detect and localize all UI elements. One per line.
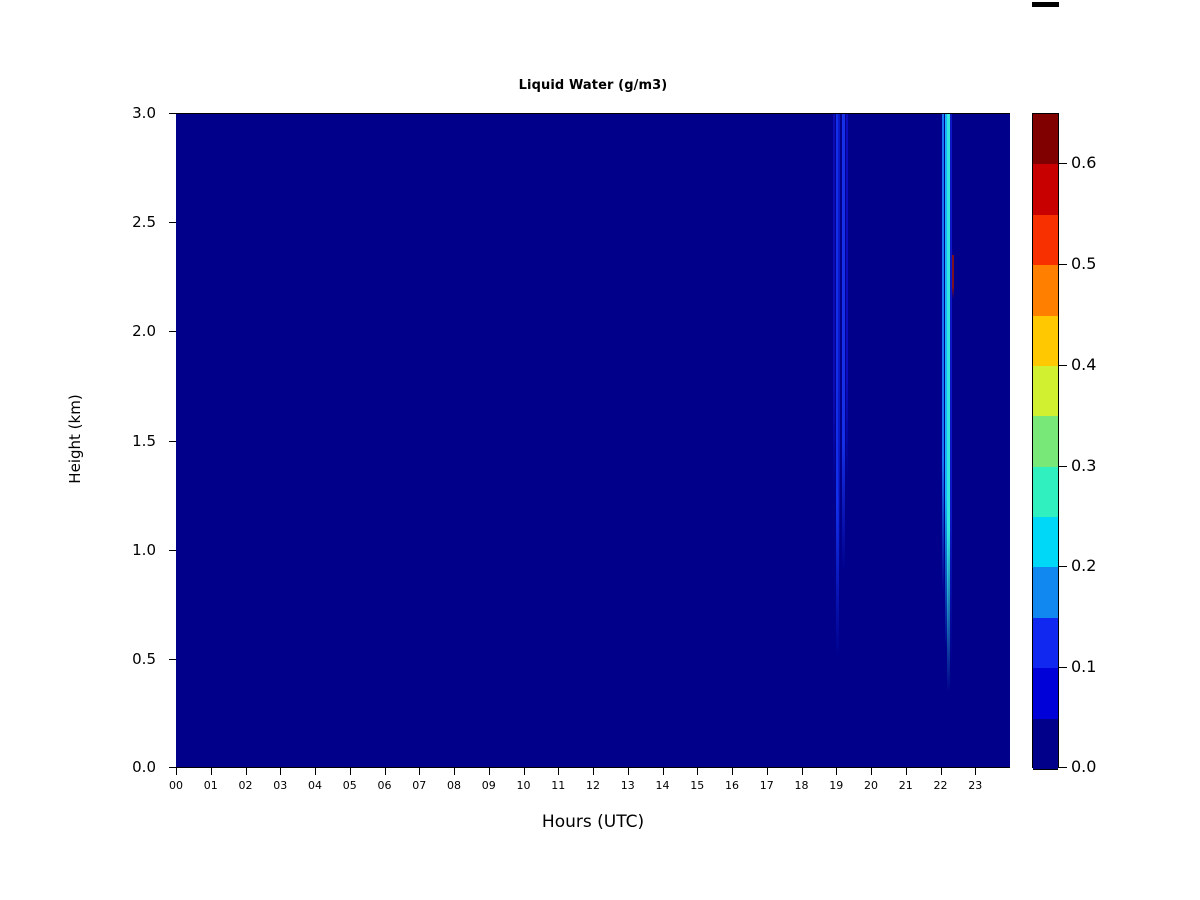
x-tick-mark <box>454 768 455 775</box>
x-tick-mark <box>732 768 733 775</box>
y-tick-label: 2.5 <box>96 213 156 231</box>
y-tick-label: 3.0 <box>96 104 156 122</box>
x-tick-mark <box>280 768 281 775</box>
colorbar-tick-mark <box>1059 365 1067 366</box>
colorbar-band <box>1033 265 1058 315</box>
x-axis-title: Hours (UTC) <box>176 812 1010 832</box>
colorbar-band <box>1033 618 1058 668</box>
x-tick-label: 17 <box>752 779 782 792</box>
heatmap-plot-area[interactable] <box>176 113 1010 768</box>
x-tick-mark <box>489 768 490 775</box>
x-tick-mark <box>246 768 247 775</box>
x-tick-label: 20 <box>856 779 886 792</box>
colorbar-tick-mark <box>1059 264 1067 265</box>
y-tick-label: 1.5 <box>96 432 156 450</box>
x-tick-label: 21 <box>891 779 921 792</box>
x-tick-label: 08 <box>439 779 469 792</box>
colorbar-tick-mark <box>1059 566 1067 567</box>
y-tick-mark <box>169 222 176 223</box>
heatmap-streak <box>838 113 840 572</box>
x-tick-mark <box>941 768 942 775</box>
x-tick-label: 23 <box>960 779 990 792</box>
x-tick-label: 19 <box>821 779 851 792</box>
x-tick-label: 07 <box>404 779 434 792</box>
x-tick-mark <box>663 768 664 775</box>
x-tick-label: 06 <box>370 779 400 792</box>
x-tick-label: 12 <box>578 779 608 792</box>
x-tick-mark <box>975 768 976 775</box>
x-tick-mark <box>211 768 212 775</box>
colorbar-band <box>1033 416 1058 466</box>
x-tick-mark <box>836 768 837 775</box>
colorbar-band <box>1033 114 1058 164</box>
colorbar-tick-label: 0.6 <box>1071 153 1096 172</box>
y-tick-label: 0.0 <box>96 758 156 776</box>
x-tick-mark <box>350 768 351 775</box>
colorbar-band-separator <box>1033 769 1058 770</box>
heatmap-streak <box>952 255 954 299</box>
x-tick-mark <box>558 768 559 775</box>
colorbar-band <box>1033 567 1058 617</box>
x-tick-label: 16 <box>717 779 747 792</box>
x-tick-label: 02 <box>231 779 261 792</box>
colorbar-band <box>1033 215 1058 265</box>
colorbar-band <box>1033 164 1058 214</box>
colorbar-tick-label: 0.3 <box>1071 456 1096 475</box>
clipped-colorbar-fragment <box>1032 2 1059 7</box>
colorbar-tick-mark <box>1059 163 1067 164</box>
x-tick-mark <box>697 768 698 775</box>
x-tick-mark <box>176 768 177 775</box>
colorbar-tick-label: 0.4 <box>1071 355 1096 374</box>
x-tick-label: 14 <box>648 779 678 792</box>
y-tick-mark <box>169 113 176 114</box>
x-tick-mark <box>385 768 386 775</box>
colorbar-band <box>1033 467 1058 517</box>
y-tick-label: 0.5 <box>96 650 156 668</box>
heatmap-streak <box>833 113 835 495</box>
x-tick-label: 00 <box>161 779 191 792</box>
colorbar-band <box>1033 668 1058 718</box>
x-tick-label: 04 <box>300 779 330 792</box>
x-tick-mark <box>906 768 907 775</box>
x-tick-label: 01 <box>196 779 226 792</box>
colorbar-tick-label: 0.5 <box>1071 254 1096 273</box>
y-tick-mark <box>169 331 176 332</box>
colorbar-tick-mark <box>1059 667 1067 668</box>
x-tick-label: 03 <box>265 779 295 792</box>
heatmap-streak <box>846 113 848 484</box>
colorbar-tick-label: 0.1 <box>1071 657 1096 676</box>
x-tick-mark <box>802 768 803 775</box>
y-tick-label: 2.0 <box>96 322 156 340</box>
y-tick-label: 1.0 <box>96 541 156 559</box>
page-title: Liquid Water (g/m3) <box>176 78 1010 93</box>
y-tick-mark <box>169 659 176 660</box>
colorbar-band <box>1033 719 1058 769</box>
x-tick-label: 13 <box>613 779 643 792</box>
x-tick-mark <box>871 768 872 775</box>
heatmap-streak <box>942 113 944 593</box>
x-tick-mark <box>593 768 594 775</box>
y-tick-mark <box>169 441 176 442</box>
colorbar-band <box>1033 316 1058 366</box>
x-tick-label: 10 <box>509 779 539 792</box>
colorbar-tick-label: 0.2 <box>1071 556 1096 575</box>
colorbar[interactable] <box>1032 113 1059 768</box>
x-tick-mark <box>524 768 525 775</box>
x-tick-mark <box>767 768 768 775</box>
colorbar-tick-label: 0.0 <box>1071 757 1096 776</box>
x-tick-label: 15 <box>682 779 712 792</box>
x-tick-label: 09 <box>474 779 504 792</box>
heatmap-streak <box>950 113 952 670</box>
x-tick-label: 22 <box>926 779 956 792</box>
colorbar-tick-mark <box>1059 466 1067 467</box>
y-tick-mark <box>169 550 176 551</box>
x-tick-mark <box>315 768 316 775</box>
x-tick-label: 11 <box>543 779 573 792</box>
x-tick-label: 05 <box>335 779 365 792</box>
colorbar-band <box>1033 366 1058 416</box>
y-axis-title: Height (km) <box>66 359 84 519</box>
x-tick-label: 18 <box>787 779 817 792</box>
y-tick-mark <box>169 767 176 768</box>
x-tick-mark <box>628 768 629 775</box>
x-tick-mark <box>419 768 420 775</box>
colorbar-tick-mark <box>1059 767 1067 768</box>
colorbar-band <box>1033 517 1058 567</box>
